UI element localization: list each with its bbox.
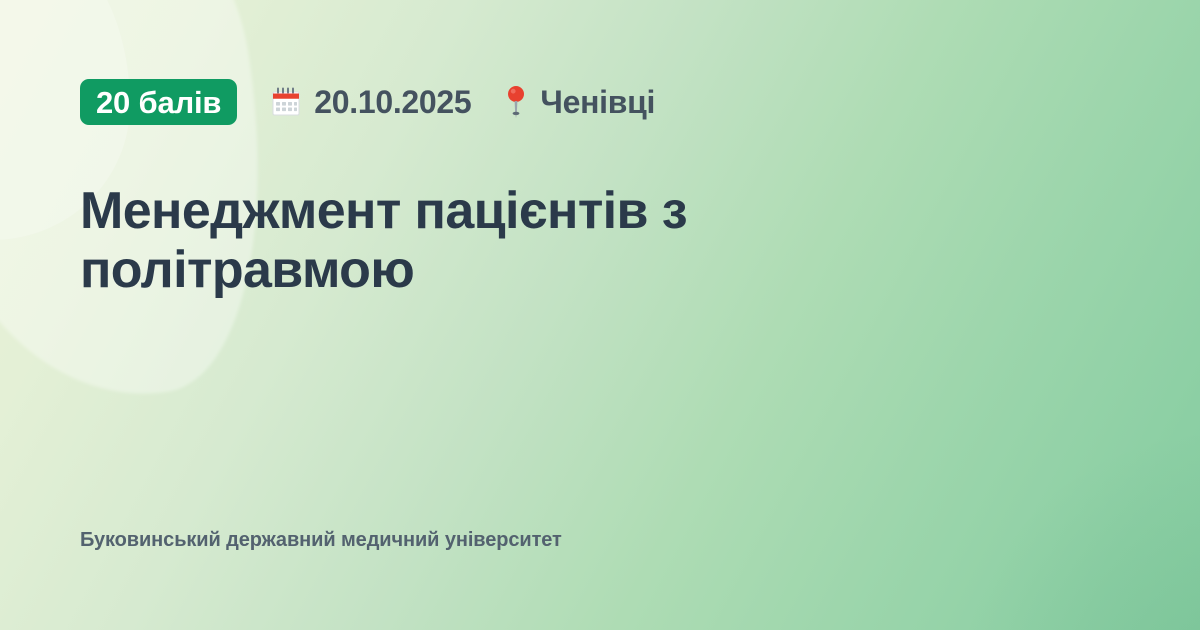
meta-item-date: 20.10.2025: [271, 84, 471, 121]
page-title: Менеджмент пацієнтів з політравмою: [80, 182, 780, 301]
event-location: Ченівці: [540, 84, 655, 121]
organization-name: Буковинський державний медичний універси…: [80, 529, 562, 552]
meta-item-location: Ченівці: [505, 84, 655, 121]
location-pin-icon: [505, 85, 527, 119]
card-content: 20 балів: [0, 0, 1200, 552]
points-badge: 20 балів: [80, 79, 237, 125]
event-date: 20.10.2025: [314, 84, 471, 121]
meta-row: 20 балів: [80, 78, 1120, 126]
calendar-icon: [271, 86, 301, 118]
event-card: 20 балів: [0, 0, 1200, 630]
